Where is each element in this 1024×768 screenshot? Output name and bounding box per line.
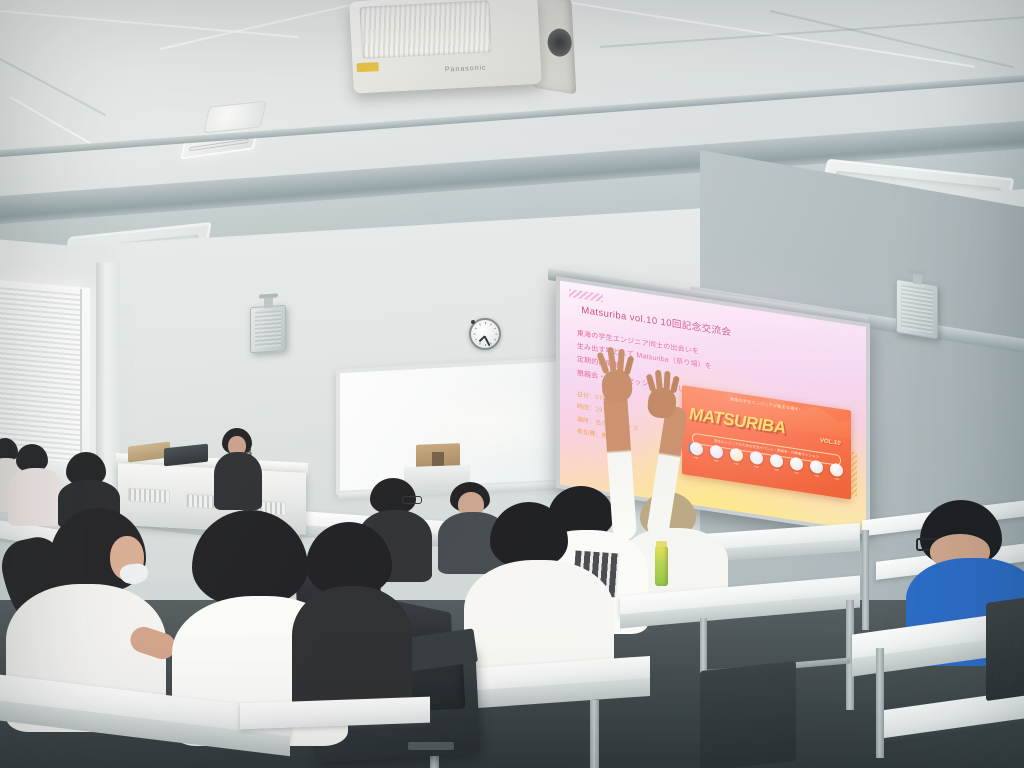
sponsor-logo-4: logo bbox=[748, 450, 765, 470]
sponsor-logo-7: logo bbox=[808, 459, 825, 479]
chair-back bbox=[700, 661, 796, 768]
ceiling-projector: Panasonic bbox=[349, 0, 565, 113]
sponsor-logo-5: logo bbox=[768, 453, 785, 473]
classroom-photo: Panasonic bbox=[0, 0, 1024, 768]
desk-leg bbox=[862, 530, 869, 630]
green-drink-bottle bbox=[655, 546, 668, 586]
projector-brand-label: Panasonic bbox=[445, 64, 487, 73]
clock-center-pin bbox=[471, 320, 475, 324]
speaker-bracket-icon bbox=[913, 272, 922, 284]
blinds-edge bbox=[80, 289, 82, 465]
chair-back bbox=[986, 597, 1024, 701]
wall-speaker-left bbox=[250, 305, 286, 354]
zigzag-decoration-icon bbox=[569, 289, 603, 302]
sponsor-logo-1: logo bbox=[687, 441, 704, 461]
desk-leg bbox=[876, 648, 884, 758]
projector-body: Panasonic bbox=[349, 0, 542, 93]
glasses-icon bbox=[402, 496, 422, 504]
wall-speaker-right bbox=[896, 279, 938, 340]
bottle-cap-icon bbox=[656, 541, 667, 547]
smoke-detector-icon bbox=[203, 101, 266, 134]
projector-warning-sticker bbox=[356, 62, 378, 72]
event-poster-image: 東海の学生エンジニアが集まる場所！ MATSURIBA VOL.10 学生エンジ… bbox=[682, 385, 850, 500]
window-blinds[interactable] bbox=[0, 284, 80, 463]
projector-vent-icon bbox=[360, 0, 493, 59]
speaker-bracket-icon bbox=[264, 297, 273, 309]
cardboard-box-flap bbox=[432, 452, 444, 466]
poster-volume-label: VOL.10 bbox=[820, 438, 841, 447]
bag-brand-label bbox=[408, 742, 454, 750]
sponsor-logo-6: logo bbox=[788, 456, 805, 476]
desk-leg bbox=[590, 700, 599, 768]
sponsor-logo-2: logo bbox=[708, 444, 725, 464]
wall-clock bbox=[469, 318, 501, 350]
sponsor-logo-8: logo bbox=[828, 463, 845, 483]
sponsor-logo-3: logo bbox=[728, 447, 745, 467]
podium-vent-icon bbox=[128, 488, 170, 504]
